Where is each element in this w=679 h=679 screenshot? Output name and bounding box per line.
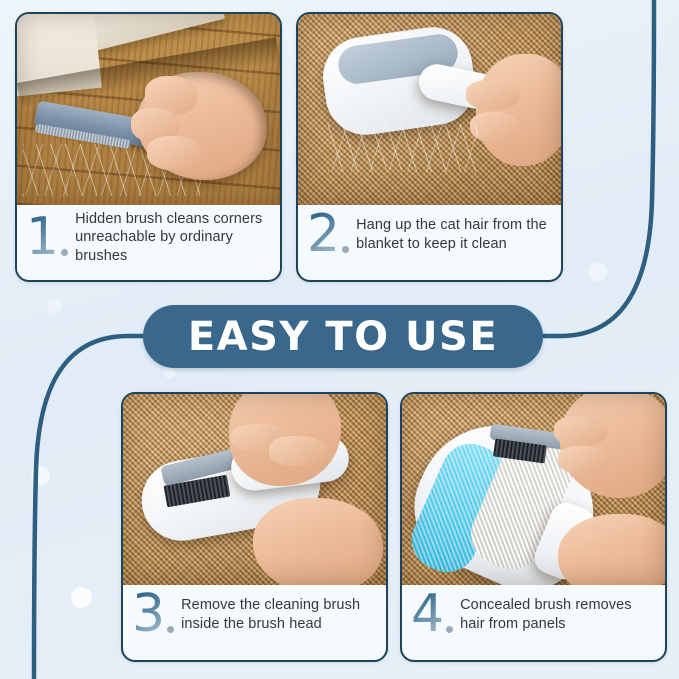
step-4-caption: 4 Concealed brush removes hair from pane… (402, 585, 665, 646)
step-number: 1 (26, 213, 58, 262)
step-description: Hidden brush cleans corners unreachable … (75, 210, 272, 265)
step-description: Hang up the cat hair from the blanket to… (356, 216, 553, 253)
step-number-dot (167, 626, 174, 633)
step-1-photo (17, 14, 280, 205)
vignette (402, 394, 665, 585)
step-description: Concealed brush removes hair from panels (460, 596, 657, 633)
step-card-3[interactable]: 3 Remove the cleaning brush inside the b… (121, 392, 388, 662)
step-card-1[interactable]: 1 Hidden brush cleans corners unreachabl… (15, 12, 282, 282)
step-1-number-group: 1 (26, 213, 68, 262)
step-card-4[interactable]: 4 Concealed brush removes hair from pane… (400, 392, 667, 662)
step-number-dot (61, 249, 68, 256)
banner-title: EASY TO USE (188, 314, 498, 360)
step-3-number-group: 3 (132, 590, 174, 639)
step-1-caption: 1 Hidden brush cleans corners unreachabl… (17, 205, 280, 272)
step-3-caption: 3 Remove the cleaning brush inside the b… (123, 585, 386, 646)
step-2-photo (298, 14, 561, 205)
vignette (123, 394, 386, 585)
scene-clean-panels (402, 394, 665, 585)
step-2-caption: 2 Hang up the cat hair from the blanket … (298, 205, 561, 266)
scene-remove-inner-brush (123, 394, 386, 585)
step-4-photo (402, 394, 665, 585)
step-number: 3 (132, 590, 164, 639)
vignette (17, 14, 280, 205)
step-number: 4 (411, 590, 443, 639)
step-2-number-group: 2 (307, 210, 349, 259)
vignette (298, 14, 561, 205)
step-card-2[interactable]: 2 Hang up the cat hair from the blanket … (296, 12, 563, 282)
scene-wood-floor (17, 14, 280, 205)
step-number-dot (342, 246, 349, 253)
infographic-stage: 1 Hidden brush cleans corners unreachabl… (0, 0, 679, 679)
scene-carpet-brush (298, 14, 561, 205)
step-4-number-group: 4 (411, 590, 453, 639)
step-number: 2 (307, 210, 339, 259)
step-3-photo (123, 394, 386, 585)
step-description: Remove the cleaning brush inside the bru… (181, 596, 378, 633)
easy-to-use-banner: EASY TO USE (143, 305, 543, 368)
step-number-dot (446, 626, 453, 633)
